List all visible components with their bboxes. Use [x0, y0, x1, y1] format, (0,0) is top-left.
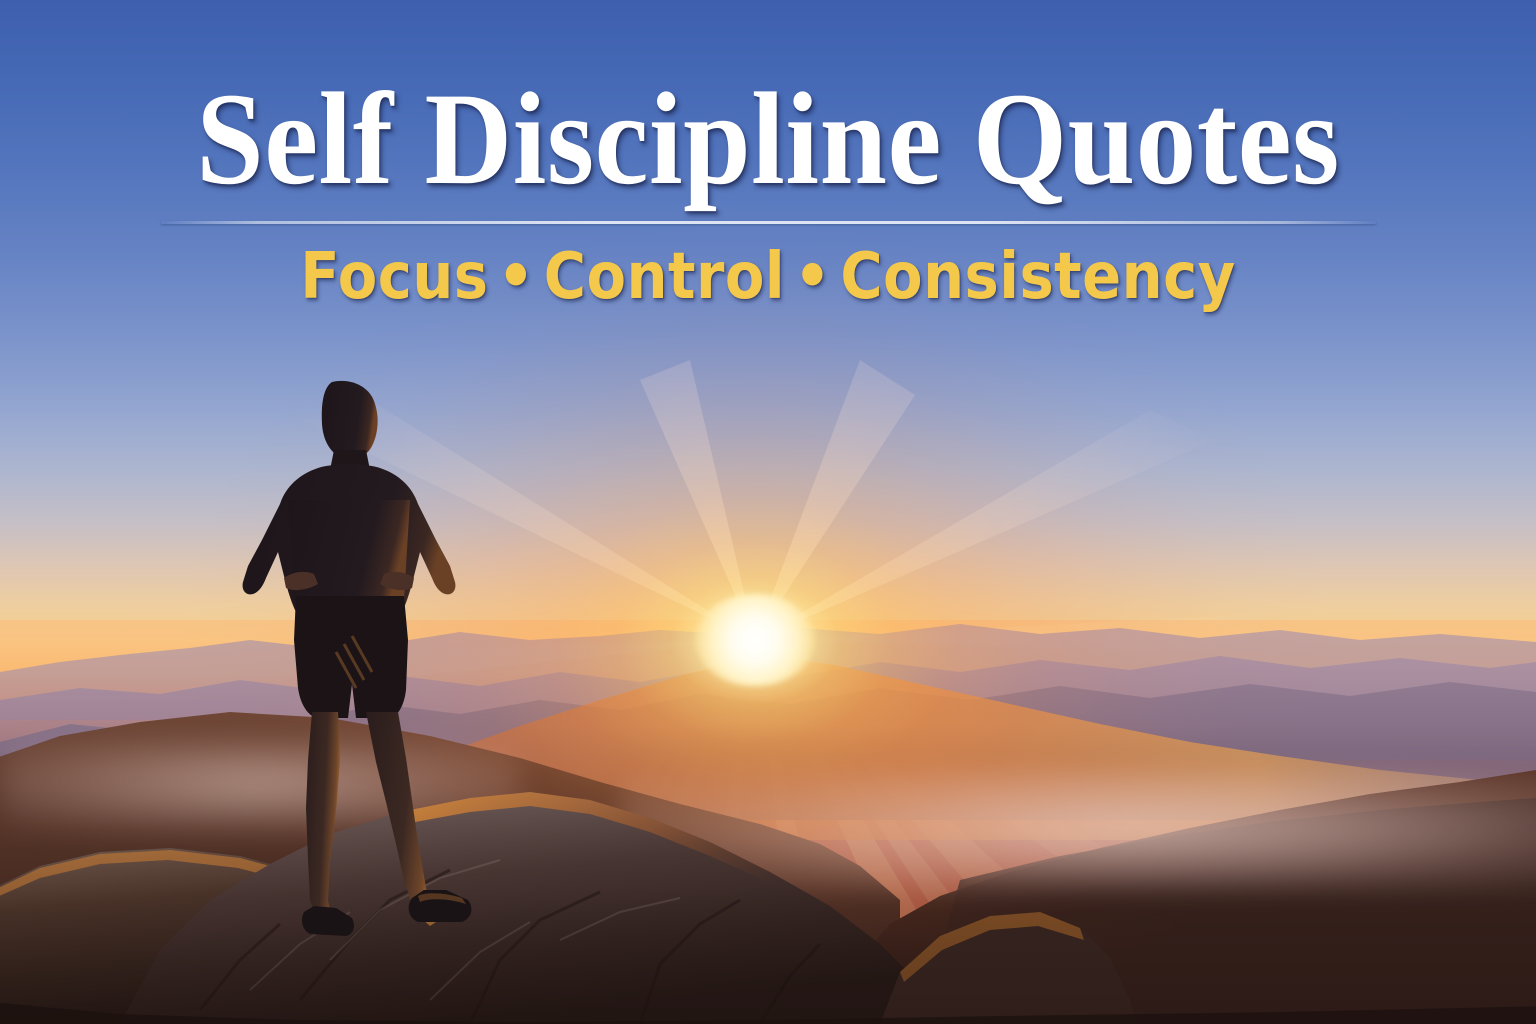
sun-icon: [695, 594, 815, 686]
valley-fog-left: [0, 740, 520, 830]
text-overlay: Self Discipline Quotes Focus•Control•Con…: [0, 0, 1536, 311]
subtitle-part-consistency: Consistency: [840, 240, 1235, 314]
page-title: Self Discipline Quotes: [61, 0, 1474, 207]
bullet-separator-icon: •: [489, 240, 544, 314]
subtitle: Focus•Control•Consistency: [77, 224, 1459, 311]
subtitle-part-control: Control: [544, 240, 785, 314]
bullet-separator-icon-2: •: [785, 240, 840, 314]
subtitle-part-focus: Focus: [300, 240, 488, 314]
poster-canvas: Self Discipline Quotes Focus•Control•Con…: [0, 0, 1536, 1024]
valley-fog: [620, 770, 1536, 890]
